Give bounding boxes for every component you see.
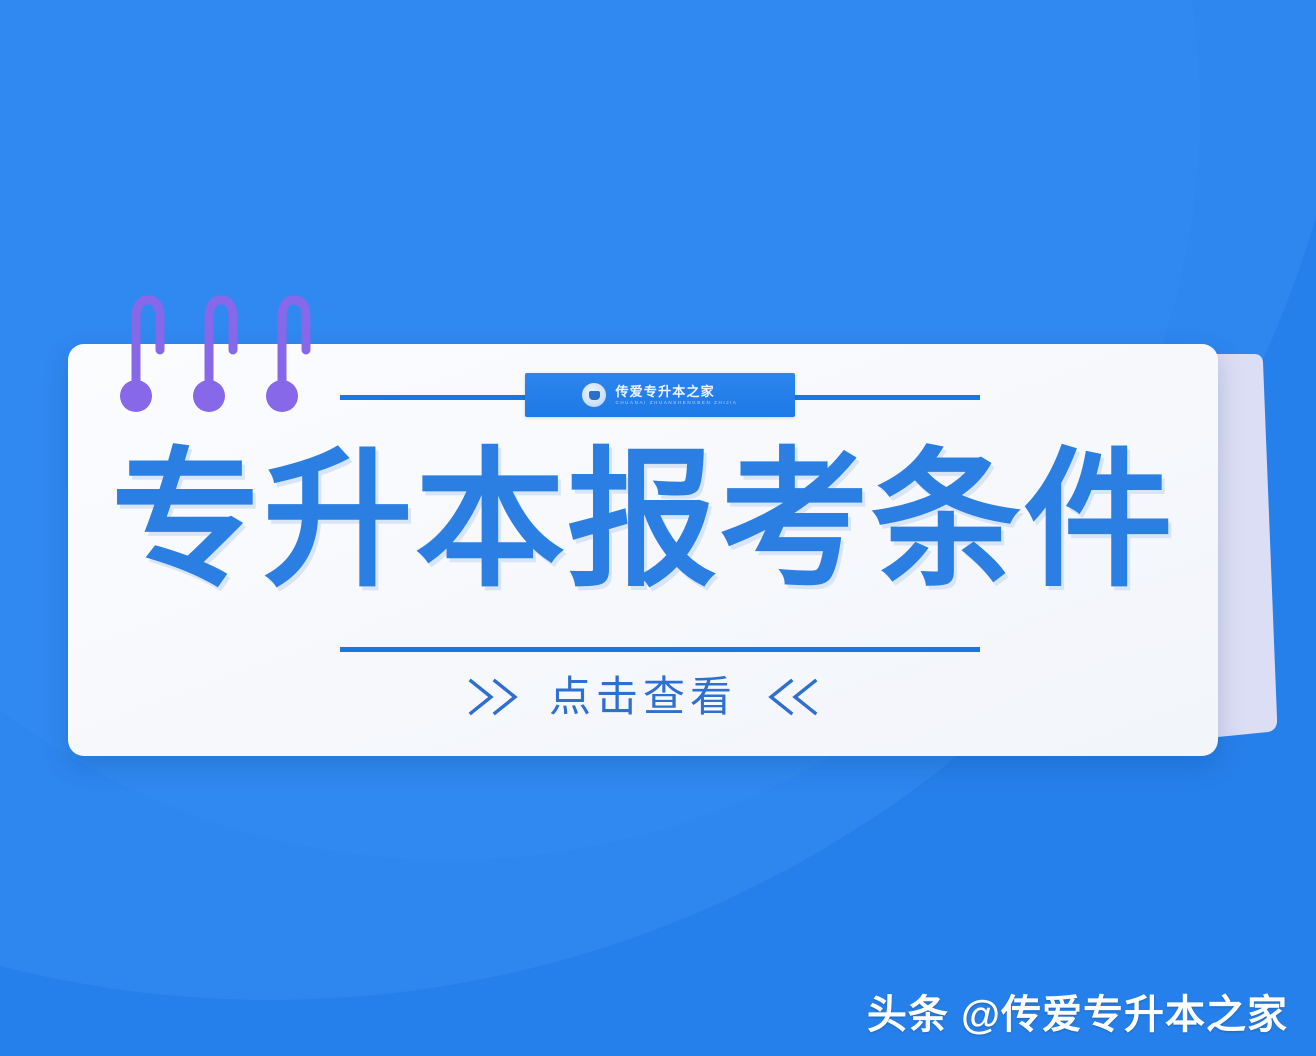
cta-row[interactable]: 点击查看 — [68, 674, 1218, 720]
brand-name: 传爱专升本之家 — [615, 385, 737, 399]
brand-badge-text: 传爱专升本之家 CHUANAI ZHUANSHENGBEN ZHIJIA — [615, 385, 737, 406]
footer-rule — [340, 647, 980, 652]
header-rule-left — [340, 395, 536, 400]
header-rule-right — [784, 395, 980, 400]
chevron-double-left-icon — [759, 675, 821, 719]
spiral-binding-ring — [120, 380, 152, 412]
card-header-row: 传爱专升本之家 CHUANAI ZHUANSHENGBEN ZHIJIA — [340, 373, 980, 421]
spiral-binding-ring — [136, 300, 160, 390]
spiral-binding-ring — [193, 380, 225, 412]
spiral-binding-ring — [282, 300, 306, 390]
spiral-binding-ring — [266, 380, 298, 412]
watermark: 头条 @传爱专升本之家 — [867, 992, 1288, 1038]
brand-subtitle: CHUANAI ZHUANSHENGBEN ZHIJIA — [615, 399, 737, 405]
spiral-binding — [118, 292, 318, 412]
brand-badge: 传爱专升本之家 CHUANAI ZHUANSHENGBEN ZHIJIA — [525, 373, 795, 417]
graduation-cap-icon — [582, 383, 606, 407]
spiral-binding-ring — [209, 300, 233, 390]
cta-label: 点击查看 — [549, 674, 737, 720]
page-title: 专升本报考条件 — [68, 436, 1218, 604]
chevron-double-right-icon — [465, 675, 527, 719]
poster-canvas: 传爱专升本之家 CHUANAI ZHUANSHENGBEN ZHIJIA 专升本… — [0, 0, 1316, 1056]
